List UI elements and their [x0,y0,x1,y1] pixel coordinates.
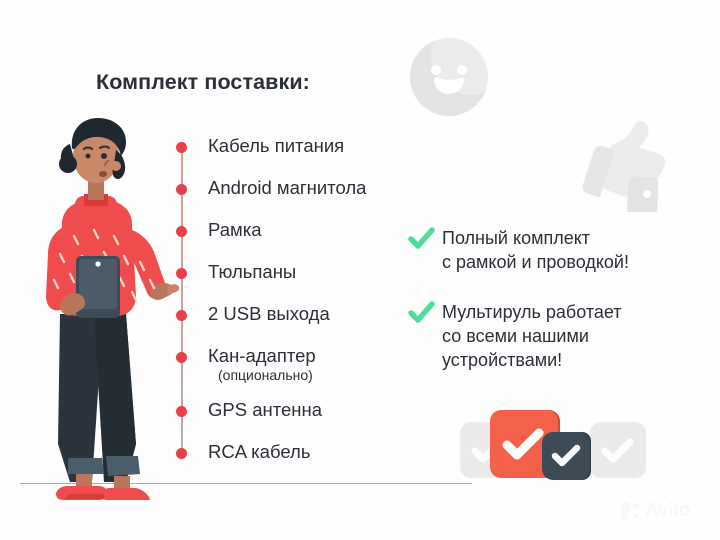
avito-watermark-text: Avito [645,500,690,522]
feature-callout-text: Полный комплектс рамкой и проводкой! [442,226,629,274]
list-item: RCA кабель [176,442,310,462]
list-item: Кан-адаптер(опционально) [176,346,316,384]
avito-logo-icon [620,501,642,521]
bullet-dot-icon [176,268,187,279]
page-title: Комплект поставки: [96,70,310,95]
list-item-label: Кан-адаптер [208,345,316,366]
list-item-label: Тюльпаны [208,262,296,282]
list-item: Кабель питания [176,136,344,156]
list-item: 2 USB выхода [176,304,330,324]
list-item-label: GPS антенна [208,400,322,420]
list-item-sublabel: (опционально) [218,366,316,384]
list-item-label: 2 USB выхода [208,304,330,324]
bullet-dot-icon [176,310,187,321]
list-item-label: RCA кабель [208,442,310,462]
bullet-dot-icon [176,352,187,363]
person-illustration [8,104,180,500]
feature-callout-line: Полный комплект [442,226,629,250]
bullet-dot-icon [176,184,187,195]
feature-callout-line: со всеми нашими [442,324,622,348]
bullet-dot-icon [176,226,187,237]
bullet-dot-icon [176,448,187,459]
feature-callout-line: с рамкой и проводкой! [442,250,629,274]
feature-callout-text: Мультируль работаетсо всеми нашимиустрой… [442,300,622,372]
checkbox-dark [542,432,590,480]
green-checkmark-icon [408,301,435,325]
checkbox-gray-right [590,422,646,478]
list-item-label: Android магнитола [208,178,366,198]
list-item-label: Кабель питания [208,136,344,156]
smiley-face-icon [408,36,490,118]
promo-card: Комплект поставки: Кабель питанияAndroid… [0,0,720,540]
feature-callout: Полный комплектс рамкой и проводкой! [408,226,629,274]
list-item-text-group: Кан-адаптер(опционально) [208,346,316,384]
green-checkmark-icon [408,227,435,251]
feature-callout: Мультируль работаетсо всеми нашимиустрой… [408,300,622,372]
list-item: GPS антенна [176,400,322,420]
list-item: Рамка [176,220,262,240]
avito-watermark: Avito [620,500,690,522]
feature-callout-line: Мультируль работает [442,300,622,324]
thumbs-up-icon [578,112,674,212]
list-item: Тюльпаны [176,262,296,282]
bullet-dot-icon [176,406,187,417]
bullet-dot-icon [176,142,187,153]
list-item: Android магнитола [176,178,366,198]
list-item-label: Рамка [208,220,262,240]
checkbox-cluster [458,404,648,496]
feature-callout-line: устройствами! [442,348,622,372]
